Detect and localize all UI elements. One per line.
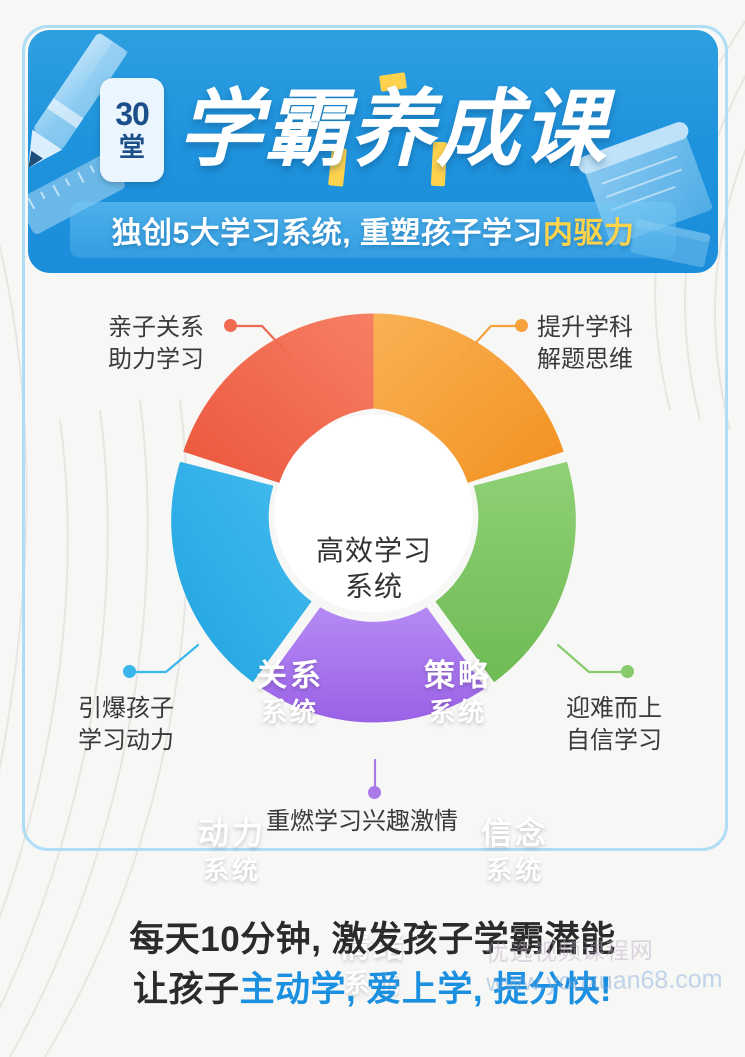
- callout-strategy-line2: 解题思维: [537, 344, 633, 376]
- callout-strategy: 提升学科 解题思维: [537, 312, 633, 376]
- callout-belief: 迎难而上 自信学习: [566, 693, 662, 757]
- leader-relation: [231, 326, 292, 358]
- callout-motivation-line1: 引爆孩子: [78, 693, 174, 725]
- leader-strategy: [462, 326, 521, 358]
- callout-leader-lines: [0, 0, 745, 1057]
- leader-belief: [558, 645, 627, 672]
- callout-dot-relation: [224, 319, 237, 332]
- callout-motivation-line2: 学习动力: [78, 725, 174, 757]
- callout-dot-strategy: [515, 319, 528, 332]
- callout-emotion-line1: 重燃学习兴趣激情: [266, 806, 458, 838]
- callout-dot-emotion: [368, 786, 381, 799]
- callout-emotion: 重燃学习兴趣激情: [266, 806, 458, 838]
- poster-root: 30 堂 学霸养成课 独创5大学习系统, 重塑孩子学习内驱力: [0, 0, 745, 1057]
- callout-belief-line2: 自信学习: [566, 725, 662, 757]
- callout-dot-belief: [621, 665, 634, 678]
- callout-belief-line1: 迎难而上: [566, 693, 662, 725]
- callout-relation-line1: 亲子关系: [108, 312, 204, 344]
- leader-motivation: [130, 645, 198, 672]
- callout-strategy-line1: 提升学科: [537, 312, 633, 344]
- callout-motivation: 引爆孩子 学习动力: [78, 693, 174, 757]
- callout-relation: 亲子关系 助力学习: [108, 312, 204, 376]
- callout-dot-motivation: [123, 665, 136, 678]
- callout-relation-line2: 助力学习: [108, 344, 204, 376]
